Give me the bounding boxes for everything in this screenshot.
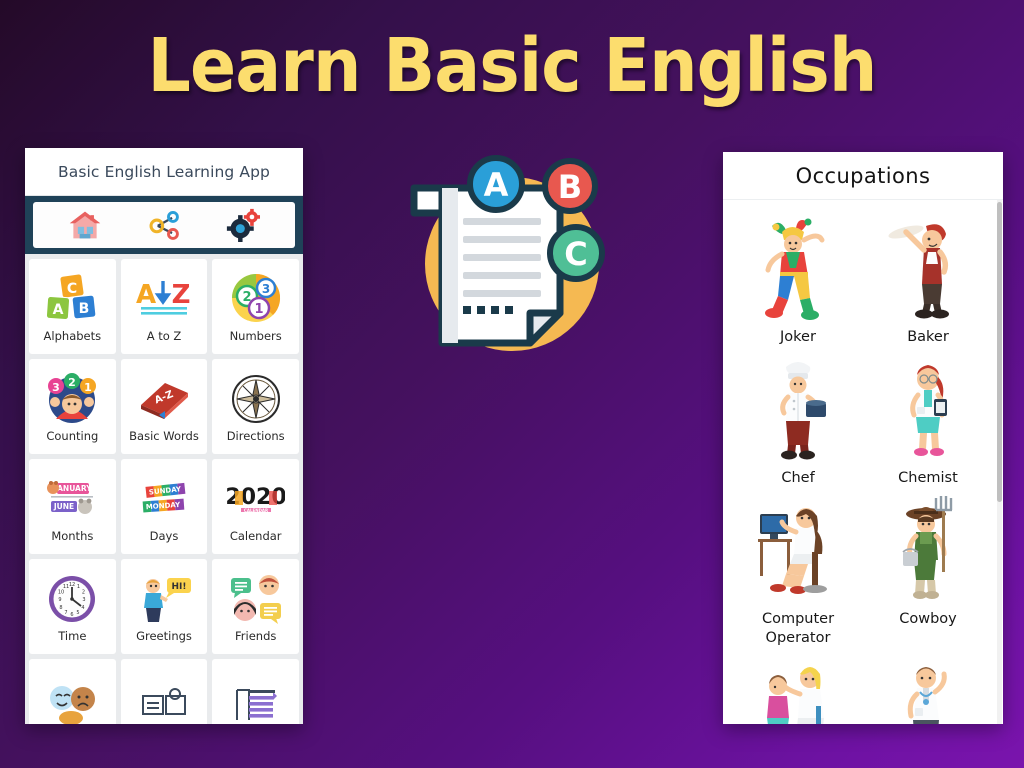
svg-text:JANUARY: JANUARY bbox=[54, 484, 93, 493]
svg-text:B: B bbox=[558, 168, 582, 206]
badge-b: B bbox=[545, 161, 595, 211]
cowboy-figure-icon bbox=[886, 496, 970, 604]
page-title: Learn Basic English bbox=[41, 18, 983, 114]
svg-text:10: 10 bbox=[58, 589, 64, 595]
svg-text:HI!: HI! bbox=[172, 582, 187, 592]
occupation-row-clipped bbox=[733, 648, 993, 724]
svg-text:5: 5 bbox=[77, 610, 80, 616]
tile-label: Calendar bbox=[230, 529, 282, 543]
occupations-list: Joker bbox=[723, 200, 1003, 724]
occupation-doctor[interactable] bbox=[863, 648, 993, 724]
tile-label: Directions bbox=[227, 429, 285, 443]
occupation-chemist[interactable]: Chemist bbox=[863, 347, 993, 488]
occupations-title-text: Occupations bbox=[796, 164, 931, 188]
person-hi-bubble-icon: HI! bbox=[135, 571, 193, 626]
share-icon[interactable] bbox=[146, 208, 182, 242]
svg-text:A: A bbox=[53, 302, 64, 318]
svg-text:7: 7 bbox=[65, 610, 68, 616]
tile-counting[interactable]: 3 2 1 Counting bbox=[29, 359, 116, 454]
svg-text:A: A bbox=[484, 166, 509, 204]
occupation-joker[interactable]: Joker bbox=[733, 206, 863, 347]
wall-clock-icon: 123 69 12 45 78 1011 bbox=[43, 571, 101, 626]
occupation-label: Chemist bbox=[898, 469, 958, 488]
chemist-figure-icon bbox=[886, 355, 970, 463]
svg-text:C: C bbox=[67, 281, 77, 297]
badge-a: A bbox=[470, 158, 522, 210]
svg-text:9: 9 bbox=[59, 597, 62, 603]
compass-rose-icon bbox=[227, 371, 285, 426]
occupations-titlebar: Occupations bbox=[723, 152, 1003, 200]
counting-kid-icon: 3 2 1 bbox=[43, 371, 101, 426]
tile-label: Months bbox=[51, 529, 93, 543]
occupation-baker[interactable]: Baker bbox=[863, 206, 993, 347]
svg-text:CALENDAR: CALENDAR bbox=[244, 508, 268, 513]
tile-label: A to Z bbox=[147, 329, 182, 343]
svg-text:1: 1 bbox=[77, 584, 80, 590]
tile-row: C A B Alphabets A Z bbox=[29, 259, 299, 354]
tile-label: Friends bbox=[235, 629, 276, 643]
tile-row: 3 2 1 Counting bbox=[29, 359, 299, 454]
days-words-icon: SUNDAY MONDAY bbox=[135, 471, 193, 526]
tile-label: Time bbox=[58, 629, 86, 643]
year-2020-icon: 2020 CALENDAR bbox=[227, 471, 285, 526]
app-navbar bbox=[25, 196, 303, 254]
joker-figure-icon bbox=[756, 214, 840, 322]
svg-text:2: 2 bbox=[82, 589, 85, 595]
occupation-computer-operator[interactable]: Computer Operator bbox=[733, 488, 863, 648]
slide-canvas: Learn Basic English Basic English Learni… bbox=[0, 0, 1024, 768]
occupation-dentist[interactable] bbox=[733, 648, 863, 724]
hero-illustration: A B C bbox=[400, 148, 625, 376]
svg-text:4: 4 bbox=[82, 605, 85, 611]
red-dictionary-icon: A-Z bbox=[135, 371, 193, 426]
occupation-cowboy[interactable]: Cowboy bbox=[863, 488, 993, 648]
occupation-label: Computer Operator bbox=[733, 610, 863, 648]
tile-row-clipped bbox=[29, 659, 299, 724]
tile-row: 123 69 12 45 78 1011 Time bbox=[29, 559, 299, 654]
occupation-label: Cowboy bbox=[899, 610, 957, 629]
tile-label: Numbers bbox=[230, 329, 282, 343]
printer-list-icon bbox=[227, 678, 285, 725]
tile-friends[interactable]: Friends bbox=[212, 559, 299, 654]
emotion-faces-icon bbox=[43, 678, 101, 725]
months-calendar-icon: JANUARY JUNE bbox=[43, 471, 101, 526]
tile-days[interactable]: SUNDAY MONDAY Days bbox=[121, 459, 208, 554]
doctor-figure-icon bbox=[886, 656, 970, 724]
occupation-row: Chef bbox=[733, 347, 993, 488]
baker-figure-icon bbox=[886, 214, 970, 322]
svg-text:Z: Z bbox=[172, 280, 191, 310]
a-to-z-icon: A Z bbox=[135, 271, 193, 326]
tile-document[interactable] bbox=[121, 659, 208, 724]
tile-time[interactable]: 123 69 12 45 78 1011 Time bbox=[29, 559, 116, 654]
scrollbar-thumb[interactable] bbox=[997, 202, 1002, 502]
left-app-screenshot: Basic English Learning App bbox=[25, 148, 303, 724]
settings-icon[interactable] bbox=[225, 208, 261, 242]
svg-text:C: C bbox=[564, 235, 587, 273]
tile-label: Days bbox=[150, 529, 179, 543]
tile-numbers[interactable]: 2 3 1 Numbers bbox=[212, 259, 299, 354]
svg-text:B: B bbox=[79, 301, 90, 317]
friends-chat-icon bbox=[227, 571, 285, 626]
tile-directions[interactable]: Directions bbox=[212, 359, 299, 454]
tile-months[interactable]: JANUARY JUNE Months bbox=[29, 459, 116, 554]
occupation-row: Joker bbox=[733, 206, 993, 347]
tile-printer[interactable] bbox=[212, 659, 299, 724]
tile-label: Counting bbox=[46, 429, 98, 443]
app-tile-grid: C A B Alphabets A Z bbox=[25, 254, 303, 724]
svg-text:1: 1 bbox=[254, 302, 263, 317]
occupation-row: Computer Operator bbox=[733, 488, 993, 648]
svg-text:2: 2 bbox=[69, 376, 77, 389]
svg-text:3: 3 bbox=[83, 597, 86, 603]
svg-text:6: 6 bbox=[71, 612, 74, 618]
badge-c: C bbox=[550, 227, 602, 279]
svg-text:3: 3 bbox=[53, 381, 61, 394]
tile-a-to-z[interactable]: A Z A to Z bbox=[121, 259, 208, 354]
tile-label: Alphabets bbox=[44, 329, 102, 343]
occupation-label: Baker bbox=[907, 328, 949, 347]
document-badge-icon bbox=[135, 678, 193, 725]
tile-label: Greetings bbox=[136, 629, 192, 643]
tile-label: Basic Words bbox=[129, 429, 199, 443]
dentist-figure-icon bbox=[756, 656, 840, 724]
svg-text:A: A bbox=[136, 280, 156, 310]
svg-text:11: 11 bbox=[63, 584, 69, 590]
occupation-label: Joker bbox=[780, 328, 816, 347]
app-title-text: Basic English Learning App bbox=[58, 163, 270, 181]
tile-basic-words[interactable]: A-Z Basic Words bbox=[121, 359, 208, 454]
tile-emotions[interactable] bbox=[29, 659, 116, 724]
svg-text:JUNE: JUNE bbox=[53, 502, 74, 511]
computer-operator-figure-icon bbox=[756, 496, 840, 604]
home-icon[interactable] bbox=[67, 208, 103, 242]
svg-text:3: 3 bbox=[261, 282, 269, 296]
svg-text:8: 8 bbox=[60, 605, 63, 611]
tile-alphabets[interactable]: C A B Alphabets bbox=[29, 259, 116, 354]
tile-greetings[interactable]: HI! Greetings bbox=[121, 559, 208, 654]
tile-calendar[interactable]: 2020 CALENDAR Calendar bbox=[212, 459, 299, 554]
occupation-label: Chef bbox=[781, 469, 814, 488]
right-app-screenshot: Occupations bbox=[723, 152, 1003, 724]
occupation-chef[interactable]: Chef bbox=[733, 347, 863, 488]
svg-text:1: 1 bbox=[85, 381, 93, 394]
chef-figure-icon bbox=[756, 355, 840, 463]
abc-blocks-icon: C A B bbox=[43, 271, 101, 326]
tile-row: JANUARY JUNE Months bbox=[29, 459, 299, 554]
numbers-circle-icon: 2 3 1 bbox=[227, 271, 285, 326]
app-titlebar: Basic English Learning App bbox=[25, 148, 303, 196]
